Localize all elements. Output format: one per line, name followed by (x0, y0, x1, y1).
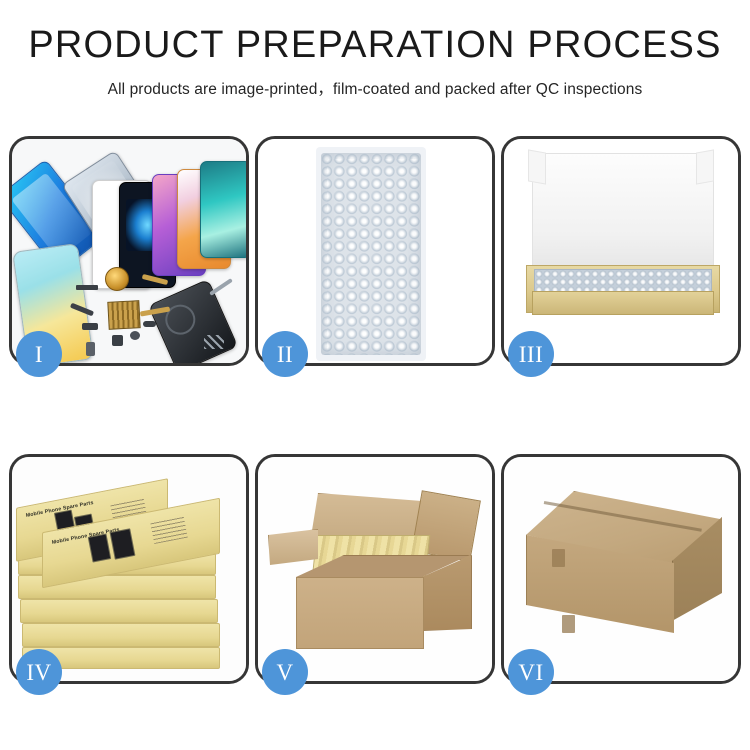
inner-box-white-lid (532, 153, 714, 271)
retail-box-stack-slab-3 (20, 599, 218, 623)
battery-connector-part (82, 323, 98, 330)
step-badge-5: V (262, 649, 308, 695)
inner-box-lid-flap-right (696, 149, 714, 184)
step-1-image (12, 139, 246, 363)
page-subtitle: All products are image-printed，film-coat… (0, 77, 750, 99)
page-title: PRODUCT PREPARATION PROCESS (0, 26, 750, 66)
step-5-image (258, 457, 492, 681)
step-panel-2: II (255, 136, 495, 366)
sealed-carton-tape-upper (552, 549, 565, 567)
retail-box-stack-slab-4 (22, 623, 220, 647)
camera-module-part (112, 335, 123, 346)
screws-set (204, 335, 224, 349)
carton-front-panel (296, 577, 424, 649)
step-2-image (258, 139, 492, 363)
step-4-image: Mobile Phone Spare Parts Mobile Phone Sp… (12, 457, 246, 681)
step-badge-2: II (262, 331, 308, 377)
process-steps-grid: I II III (9, 136, 741, 684)
page-header: PRODUCT PREPARATION PROCESS All products… (0, 0, 750, 99)
phone-teal-screen (200, 161, 246, 258)
wireless-charging-coil-part (105, 267, 129, 291)
step-panel-3: III (501, 136, 741, 366)
step-badge-3: III (508, 331, 554, 377)
inner-box-kraft-front-panel (532, 291, 714, 315)
carton-flap-left (268, 529, 320, 567)
inner-box-lid-flap-left (528, 149, 546, 184)
sealed-carton-tape-lower (562, 615, 575, 633)
step-badge-6: VI (508, 649, 554, 695)
sim-tray-part (86, 342, 95, 356)
phone-rear-housing (148, 279, 238, 363)
step-panel-6: VI (501, 454, 741, 684)
step-badge-4: IV (16, 649, 62, 695)
step-6-image (504, 457, 738, 681)
screwdriver-tool (209, 278, 233, 296)
step-panel-5: V (255, 454, 495, 684)
product-preparation-process-page: PRODUCT PREPARATION PROCESS All products… (0, 0, 750, 750)
earpiece-part (143, 321, 156, 327)
logic-board-chip-part (107, 300, 140, 330)
step-badge-1: I (16, 331, 62, 377)
vibration-motor-part (130, 331, 140, 340)
step-panel-1: I (9, 136, 249, 366)
bubble-wrap-bubbles-overlay (327, 159, 421, 355)
step-panel-4: Mobile Phone Spare Parts Mobile Phone Sp… (9, 454, 249, 684)
step-3-image (504, 139, 738, 363)
speaker-mesh-part (76, 285, 98, 290)
